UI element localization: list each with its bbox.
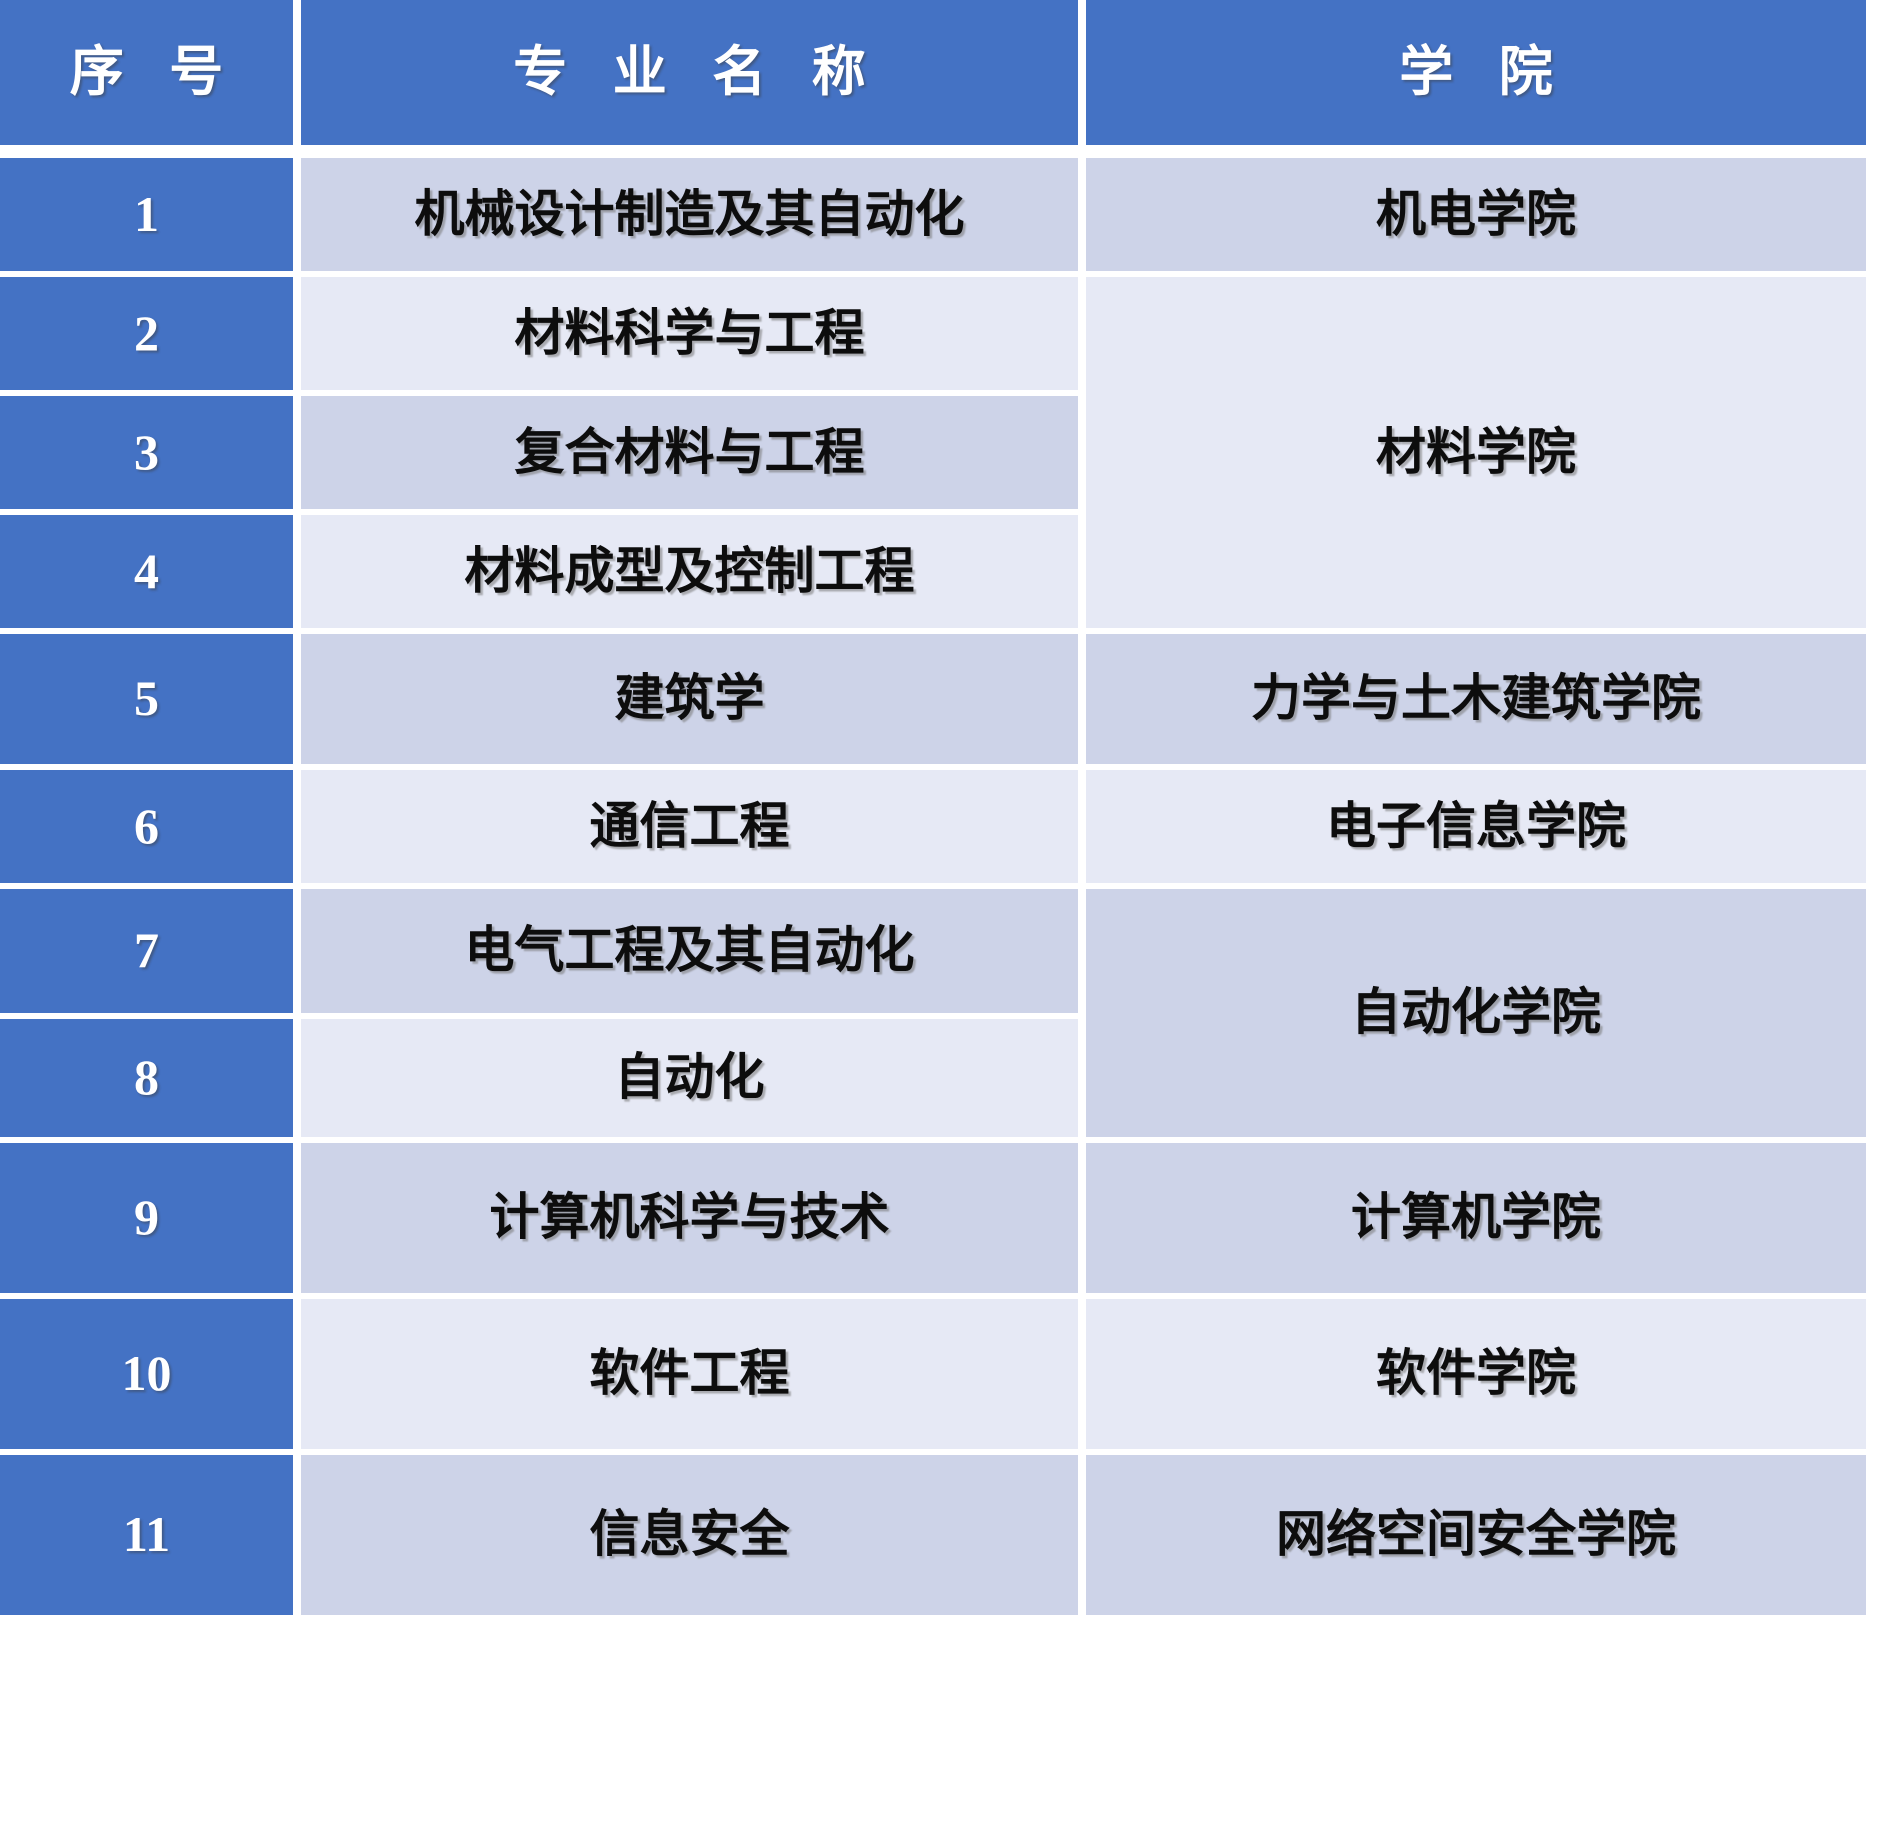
table-cell-college-7: 软件学院 bbox=[1086, 1299, 1866, 1449]
table-cell-major-8: 自动化 bbox=[301, 1019, 1078, 1137]
table-cell-major-3: 复合材料与工程 bbox=[301, 396, 1078, 509]
table-row-index-11: 11 bbox=[0, 1455, 293, 1615]
column-header-index: 序 号 bbox=[0, 0, 293, 145]
table-cell-college-3: 力学与土木建筑学院 bbox=[1086, 634, 1866, 764]
table-row-index-5: 5 bbox=[0, 634, 293, 764]
table-row-index-9: 9 bbox=[0, 1143, 293, 1293]
table-cell-college-2: 材料学院 bbox=[1086, 277, 1866, 628]
column-header-college: 学 院 bbox=[1086, 0, 1866, 145]
table-cell-college-1: 机电学院 bbox=[1086, 158, 1866, 271]
table-cell-college-8: 网络空间安全学院 bbox=[1086, 1455, 1866, 1615]
table-row-index-2: 2 bbox=[0, 277, 293, 390]
table-row-index-1: 1 bbox=[0, 158, 293, 271]
table-row-index-7: 7 bbox=[0, 889, 293, 1013]
table-row-index-4: 4 bbox=[0, 515, 293, 628]
majors-colleges-table: 序 号 专 业 名 称 学 院 1 2 3 4 5 6 7 8 9 10 11 … bbox=[0, 0, 1878, 1821]
table-cell-major-4: 材料成型及控制工程 bbox=[301, 515, 1078, 628]
table-cell-college-5: 自动化学院 bbox=[1086, 889, 1866, 1137]
table-cell-major-6: 通信工程 bbox=[301, 770, 1078, 883]
table-cell-college-4: 电子信息学院 bbox=[1086, 770, 1866, 883]
column-header-major: 专 业 名 称 bbox=[301, 0, 1078, 145]
table-row-index-6: 6 bbox=[0, 770, 293, 883]
table-cell-major-7: 电气工程及其自动化 bbox=[301, 889, 1078, 1013]
table-row-index-8: 8 bbox=[0, 1019, 293, 1137]
table-cell-major-9: 计算机科学与技术 bbox=[301, 1143, 1078, 1293]
table-cell-major-2: 材料科学与工程 bbox=[301, 277, 1078, 390]
table-cell-college-6: 计算机学院 bbox=[1086, 1143, 1866, 1293]
table-row-index-10: 10 bbox=[0, 1299, 293, 1449]
table-cell-major-5: 建筑学 bbox=[301, 634, 1078, 764]
table-cell-major-10: 软件工程 bbox=[301, 1299, 1078, 1449]
table-row-index-3: 3 bbox=[0, 396, 293, 509]
table-cell-major-1: 机械设计制造及其自动化 bbox=[301, 158, 1078, 271]
table-cell-major-11: 信息安全 bbox=[301, 1455, 1078, 1615]
